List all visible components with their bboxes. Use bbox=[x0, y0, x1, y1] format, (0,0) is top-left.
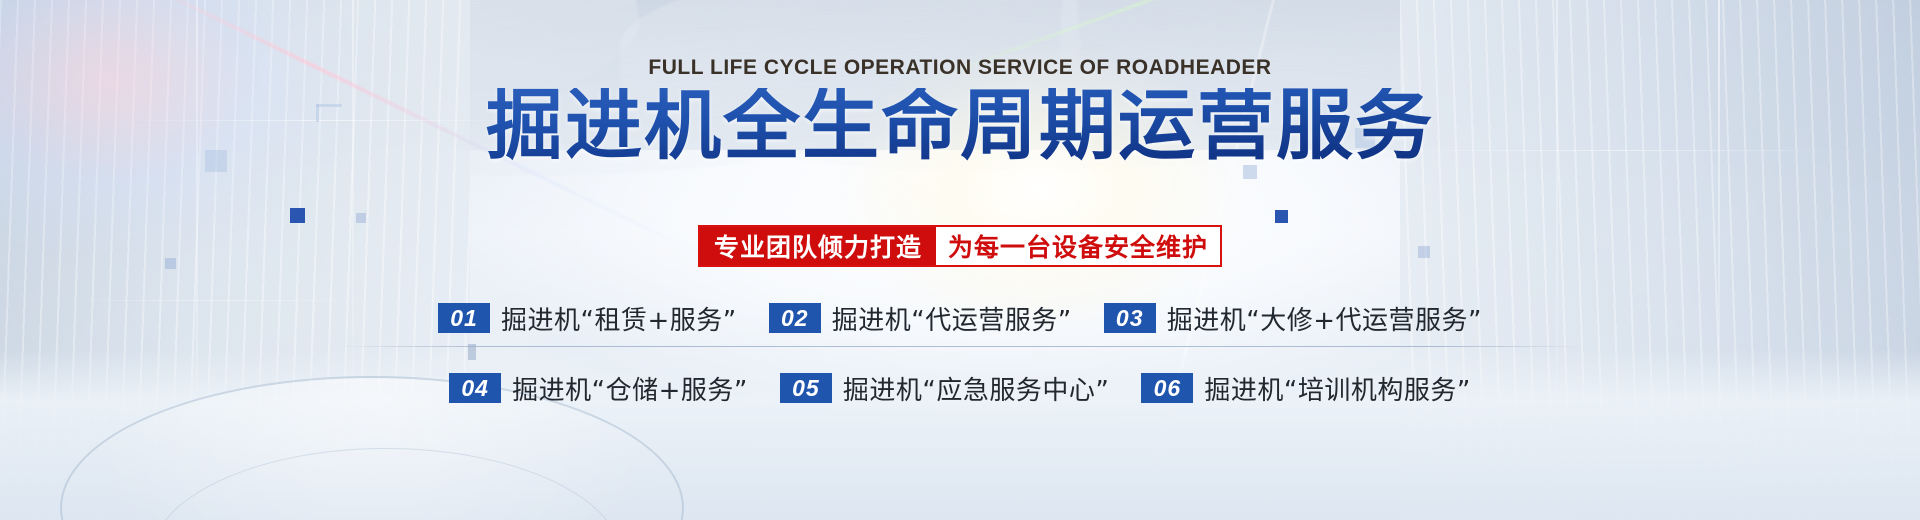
tagline-bar: 专业团队倾力打造 为每一台设备安全维护 bbox=[0, 225, 1920, 267]
banner-eyebrow: FULL LIFE CYCLE OPERATION SERVICE OF ROA… bbox=[0, 56, 1920, 80]
service-item-04[interactable]: 04 掘进机“仓储+服务” bbox=[449, 370, 748, 407]
service-item-01[interactable]: 01 掘进机“租赁+服务” bbox=[438, 300, 737, 337]
service-number-badge: 06 bbox=[1141, 373, 1193, 403]
banner-content: FULL LIFE CYCLE OPERATION SERVICE OF ROA… bbox=[0, 0, 1920, 520]
service-label: 掘进机“培训机构服务” bbox=[1204, 370, 1470, 407]
service-number-badge: 03 bbox=[1104, 303, 1156, 333]
banner-headline: 掘进机全生命周期运营服务 bbox=[0, 88, 1920, 165]
service-number-badge: 02 bbox=[769, 303, 821, 333]
service-item-06[interactable]: 06 掘进机“培训机构服务” bbox=[1141, 370, 1470, 407]
tagline-primary: 专业团队倾力打造 bbox=[700, 227, 936, 265]
service-item-03[interactable]: 03 掘进机“大修+代运营服务” bbox=[1104, 300, 1482, 337]
service-number-badge: 01 bbox=[438, 303, 490, 333]
service-label: 掘进机“仓储+服务” bbox=[512, 370, 748, 407]
service-number-badge: 04 bbox=[449, 373, 501, 403]
service-item-02[interactable]: 02 掘进机“代运营服务” bbox=[769, 300, 1072, 337]
promo-banner: FULL LIFE CYCLE OPERATION SERVICE OF ROA… bbox=[0, 0, 1920, 520]
service-number-badge: 05 bbox=[780, 373, 832, 403]
service-label: 掘进机“租赁+服务” bbox=[501, 300, 737, 337]
service-item-05[interactable]: 05 掘进机“应急服务中心” bbox=[780, 370, 1109, 407]
service-label: 掘进机“大修+代运营服务” bbox=[1167, 300, 1482, 337]
service-label: 掘进机“代运营服务” bbox=[832, 300, 1072, 337]
services-row-bottom: 04 掘进机“仓储+服务” 05 掘进机“应急服务中心” 06 掘进机“培训机构… bbox=[0, 360, 1920, 416]
services-list: 01 掘进机“租赁+服务” 02 掘进机“代运营服务” 03 掘进机“大修+代运… bbox=[0, 290, 1920, 416]
tagline-wrapper: 专业团队倾力打造 为每一台设备安全维护 bbox=[698, 225, 1222, 267]
tagline-secondary: 为每一台设备安全维护 bbox=[936, 227, 1220, 265]
service-label: 掘进机“应急服务中心” bbox=[843, 370, 1109, 407]
services-row-top: 01 掘进机“租赁+服务” 02 掘进机“代运营服务” 03 掘进机“大修+代运… bbox=[0, 290, 1920, 346]
